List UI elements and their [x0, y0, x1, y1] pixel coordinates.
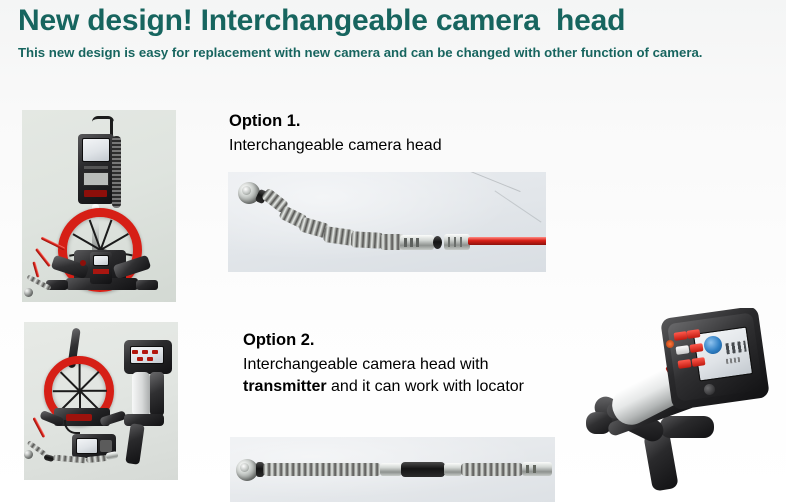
photo-system-front	[22, 110, 176, 302]
photo-system-kit	[24, 322, 178, 480]
page-title: New design! Interchangeable camera head	[18, 4, 625, 38]
photo-locator-device	[586, 308, 782, 500]
page-subtitle: This new design is easy for replacement …	[18, 44, 758, 61]
option-1-description: Interchangeable camera head	[229, 135, 442, 157]
option-2-text-part1: Interchangeable camera head with	[243, 356, 489, 373]
slide-canvas: New design! Interchangeable camera head …	[0, 0, 786, 502]
option-2-text-bold: transmitter	[243, 378, 327, 395]
option-2-description: Interchangeable camera head with transmi…	[243, 354, 553, 398]
photo-camera-head-option1	[228, 172, 546, 272]
photo-camera-head-option2	[230, 437, 555, 502]
option-1-heading: Option 1.	[229, 112, 301, 131]
option-2-text-part2: and it can work with locator	[327, 378, 524, 395]
option-2-heading: Option 2.	[243, 331, 315, 350]
